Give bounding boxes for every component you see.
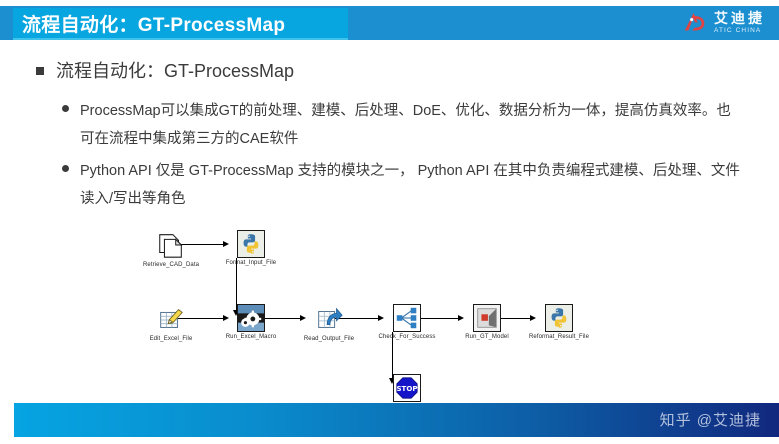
page-title: 流程自动化：GT-ProcessMap [13,10,285,37]
flow-node-label: Run_Excel_Macro [209,334,293,341]
brand-logo: 艾迪捷 ATIC CHINA [679,7,765,38]
bullet-text: Python API 仅是 GT-ProcessMap 支持的模块之一， Pyt… [80,157,740,213]
round-bullet-icon [62,105,69,112]
atic-logo-icon [679,8,708,37]
round-bullet-icon [62,165,69,172]
watermark: 知乎 @艾迪捷 [660,409,761,430]
python-icon [237,230,265,258]
flow-node-label: Retrieve_CAD_Data [129,262,213,269]
slide-canvas: 流程自动化：GT-ProcessMap 艾迪捷 ATIC CHINA 流程自动化… [0,0,779,444]
process-map-diagram: Retrieve_CAD_Data Format_Input_File [0,222,779,402]
flow-node-label: Edit_Excel_File [129,336,213,343]
flow-node-edit-excel-file[interactable]: Edit_Excel_File [128,304,214,343]
branch-icon [393,304,421,332]
stop-sign-icon: STOP [393,374,421,402]
flow-node-label: Read_Output_File [287,336,371,343]
flow-node-run-excel-macro[interactable]: Run_Excel_Macro [208,304,294,341]
flow-node-read-output-file[interactable]: Read_Output_File [286,304,372,343]
square-bullet-icon [36,67,44,75]
bullet-text: ProcessMap可以集成GT的前处理、建模、后处理、DoE、优化、数据分析为… [80,97,740,153]
bullet-item: ProcessMap可以集成GT的前处理、建模、后处理、DoE、优化、数据分析为… [62,97,762,153]
header-title-block: 流程自动化：GT-ProcessMap [13,8,348,38]
flow-node-label: Format_Input_File [209,260,293,267]
flow-node-check-for-success[interactable]: Check_For_Success [364,304,450,341]
logo-name-en: ATIC CHINA [714,26,765,35]
python-icon [545,304,573,332]
logo-name-cn: 艾迪捷 [714,11,765,26]
gears-icon [237,304,265,332]
flow-node-label: Reformat_Result_File [517,334,601,341]
heading-bullet: 流程自动化：GT-ProcessMap [36,58,294,84]
flow-node-label: Check_For_Success [365,334,449,341]
section-heading: 流程自动化：GT-ProcessMap [56,58,294,84]
svg-text:STOP: STOP [396,384,417,393]
flow-node-format-input-file[interactable]: Format_Input_File [208,230,294,267]
grid-arrow-icon [314,304,344,334]
header-underline [13,38,348,40]
gt-model-icon [473,304,501,332]
document-pages-icon [156,230,186,260]
logo-text: 艾迪捷 ATIC CHINA [714,11,765,35]
flow-node-retrieve-cad-data[interactable]: Retrieve_CAD_Data [128,230,214,269]
flow-node-reformat-result-file[interactable]: Reformat_Result_File [516,304,602,341]
bullet-item: Python API 仅是 GT-ProcessMap 支持的模块之一， Pyt… [62,157,762,213]
excel-pencil-icon [156,304,186,334]
